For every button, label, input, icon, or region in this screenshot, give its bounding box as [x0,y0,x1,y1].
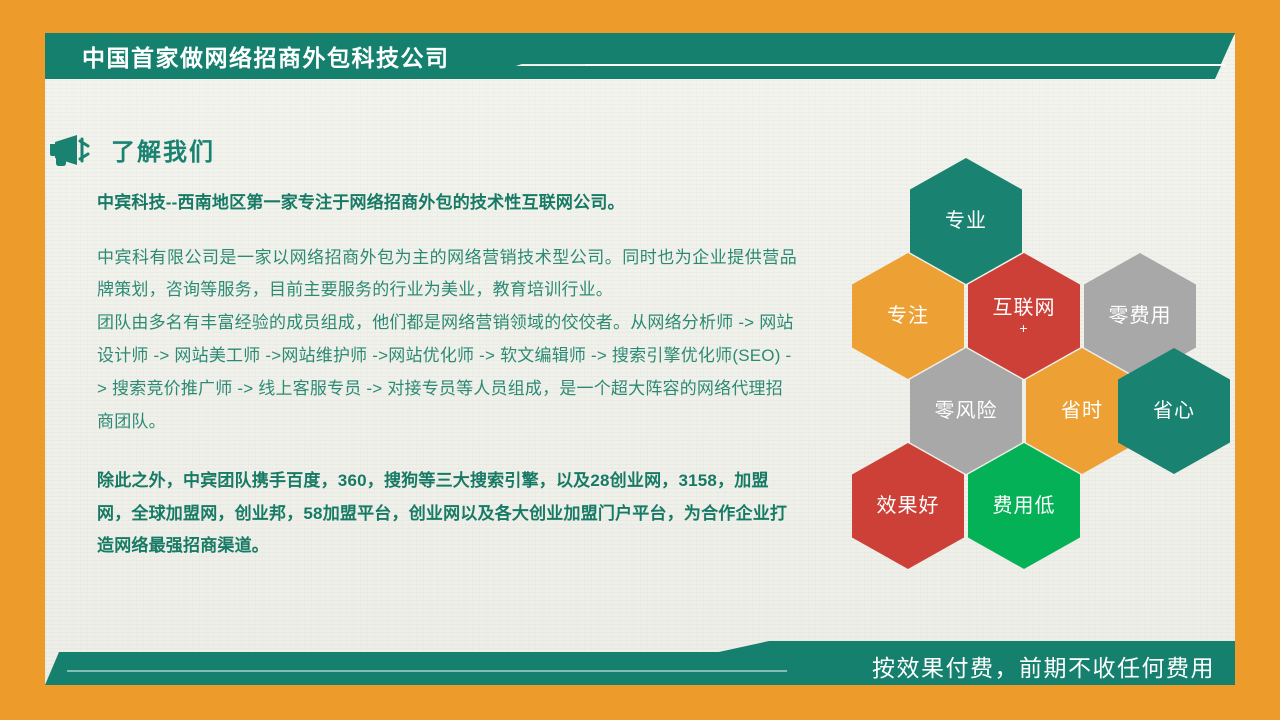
footer-strip-left [45,652,745,685]
hexagon-label: 效果好 [877,495,940,517]
footer-tagline: 按效果付费，前期不收任何费用 [872,649,1215,683]
footer-banner: 按效果付费，前期不收任何费用 [45,641,1235,685]
slide-root: 中国首家做网络招商外包科技公司 了解我们 中宾科技--西南地区第一家专注于网络招… [0,0,1280,720]
header-divider-line [585,64,1225,66]
hexagon-cluster: 专业专注互联网+零费用零风险省时省心效果好费用低 [838,158,1198,538]
header-strip-lower [465,66,1235,79]
paragraph-team: 团队由多名有丰富经验的成员组成，他们都是网络营销领域的佼佼者。从网络分析师 ->… [97,307,797,439]
hexagon-label: 专注 [887,305,929,327]
section-title: 了解我们 [111,132,215,167]
hexagon-label: 省时 [1061,400,1103,422]
paragraph-channels: 除此之外，中宾团队携手百度，360，搜狗等三大搜索引擎，以及28创业网，3158… [97,465,797,562]
hexagon-label: 专业 [945,210,987,232]
hexagon-sublabel: + [1019,321,1028,335]
header-bar: 中国首家做网络招商外包科技公司 [45,33,1235,79]
section-heading: 了解我们 [47,132,215,167]
megaphone-icon [47,133,91,167]
footer-divider-line [67,670,787,672]
about-copy: 中宾科技--西南地区第一家专注于网络招商外包的技术性互联网公司。 中宾科有限公司… [97,190,797,562]
hexagon-label: 零费用 [1109,305,1172,327]
hexagon-label: 省心 [1153,400,1195,422]
hexagon-label: 互联网 [993,297,1056,319]
hexagon-label: 费用低 [993,495,1056,517]
paragraph-company: 中宾科有限公司是一家以网络招商外包为主的网络营销技术型公司。同时也为企业提供营品… [97,242,797,308]
hexagon-label: 零风险 [935,400,998,422]
lead-statement: 中宾科技--西南地区第一家专注于网络招商外包的技术性互联网公司。 [97,190,797,216]
header-strip-upper [465,33,1235,64]
page-title: 中国首家做网络招商外包科技公司 [82,39,450,73]
